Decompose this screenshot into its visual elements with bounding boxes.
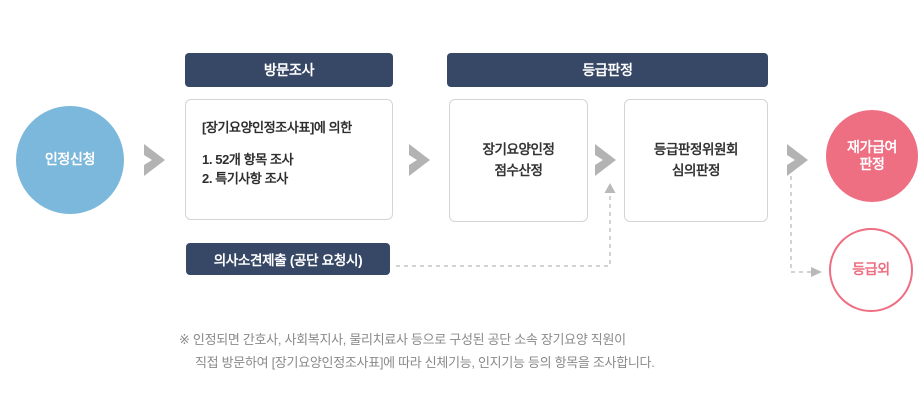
footnote: ※ 인정되면 간호사, 사회복지사, 물리치료사 등으로 구성된 공단 소속 장…: [179, 329, 799, 375]
box-longterm-care-score-line1: 장기요양인정: [482, 142, 554, 157]
box-grade-committee-review-line1: 등급판정위원회: [654, 142, 738, 157]
section-header-visit-survey-label: 방문조사: [264, 60, 314, 80]
node-out-of-grade-circle[interactable]: 등급외: [829, 228, 913, 312]
flowchart-canvas: 인정신청 방문조사 [장기요양인정조사표]에 의한 1. 52개 항목 조사 2…: [0, 0, 920, 411]
box-visit-survey-details: [장기요양인정조사표]에 의한 1. 52개 항목 조사 2. 특기사항 조사: [185, 99, 393, 220]
dashed-arrowhead-right: [811, 267, 822, 277]
survey-item-1: 1. 52개 항목 조사: [202, 150, 376, 170]
chevron-right-icon-3: [588, 140, 624, 180]
chevron-right-icon-4: [782, 140, 816, 180]
node-application-circle[interactable]: 인정신청: [16, 106, 124, 214]
dashed-path-to-out-of-grade: [791, 176, 812, 272]
footnote-line-1: ※ 인정되면 간호사, 사회복지사, 물리치료사 등으로 구성된 공단 소속 장…: [179, 329, 799, 352]
box-doctor-opinion-submission[interactable]: 의사소견제출 (공단 요청시): [186, 243, 390, 275]
chevron-right-icon-1: [139, 140, 173, 180]
node-out-of-grade-label: 등급외: [852, 261, 889, 279]
node-home-care-benefit-line1: 재가급여: [847, 139, 897, 155]
section-header-visit-survey: 방문조사: [185, 53, 393, 87]
section-header-grade-decision: 등급판정: [447, 53, 768, 87]
box-longterm-care-score: 장기요양인정 점수산정: [449, 99, 588, 222]
section-header-grade-decision-label: 등급판정: [582, 60, 632, 80]
box-grade-committee-review-line2: 심의판정: [672, 163, 720, 178]
box-longterm-care-score-line2: 점수산정: [494, 163, 542, 178]
footnote-line-1-text: 인정되면 간호사, 사회복지사, 물리치료사 등으로 구성된 공단 소속 장기요…: [193, 332, 626, 347]
survey-item-2: 2. 특기사항 조사: [202, 169, 376, 189]
dashed-arrowhead-up: [605, 183, 616, 193]
chevron-right-icon-2: [404, 140, 438, 180]
footnote-line-2: 직접 방문하여 [장기요양인정조사표]에 따라 신체기능, 인지기능 등의 항목…: [179, 352, 799, 375]
footnote-marker-icon: ※: [179, 332, 190, 347]
survey-lead-text: [장기요양인정조사표]에 의한: [202, 118, 376, 138]
box-doctor-opinion-submission-label: 의사소견제출 (공단 요청시): [214, 249, 363, 269]
box-grade-committee-review: 등급판정위원회 심의판정: [624, 99, 768, 222]
node-home-care-benefit-line2: 판정: [860, 156, 885, 172]
node-home-care-benefit-circle[interactable]: 재가급여 판정: [826, 110, 918, 202]
node-application-label: 인정신청: [45, 151, 95, 169]
